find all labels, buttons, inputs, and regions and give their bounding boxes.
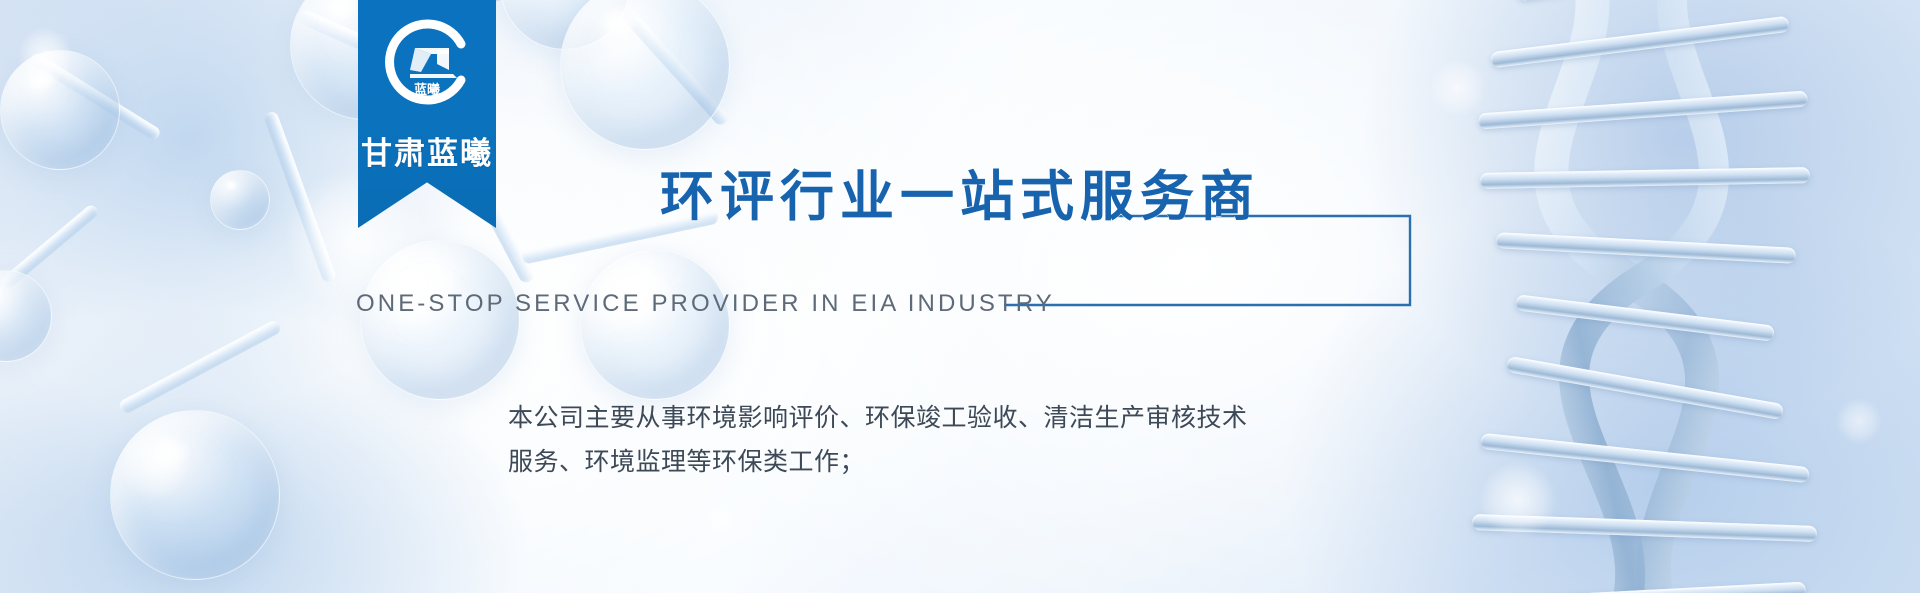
bokeh-light: [1836, 398, 1882, 444]
dna-helix-decoration: [1300, 0, 1920, 593]
logo-mark-text: 蓝曦: [414, 82, 440, 98]
hero-banner: 蓝曦 甘肃蓝曦 环评行业一站式服务商 ONE-STOP SERVICE PROV…: [0, 0, 1920, 593]
company-name-label: 甘肃蓝曦: [358, 128, 496, 173]
bokeh-light: [120, 430, 190, 500]
company-circle-logo-icon: 蓝曦: [379, 14, 475, 110]
bokeh-light: [18, 28, 72, 82]
description-line-2: 服务、环境监理等环保类工作；: [508, 440, 1408, 484]
description-line-1: 本公司主要从事环境影响评价、环保竣工验收、清洁生产审核技术: [508, 396, 1408, 440]
page-title: 环评行业一站式服务商: [660, 152, 1260, 231]
bokeh-light: [1480, 462, 1556, 538]
bokeh-light: [1430, 60, 1486, 116]
bokeh-light: [700, 500, 740, 540]
page-subtitle: ONE-STOP SERVICE PROVIDER IN EIA INDUSTR…: [356, 290, 1055, 318]
description-paragraph: 本公司主要从事环境影响评价、环保竣工验收、清洁生产审核技术 服务、环境监理等环保…: [508, 396, 1408, 484]
